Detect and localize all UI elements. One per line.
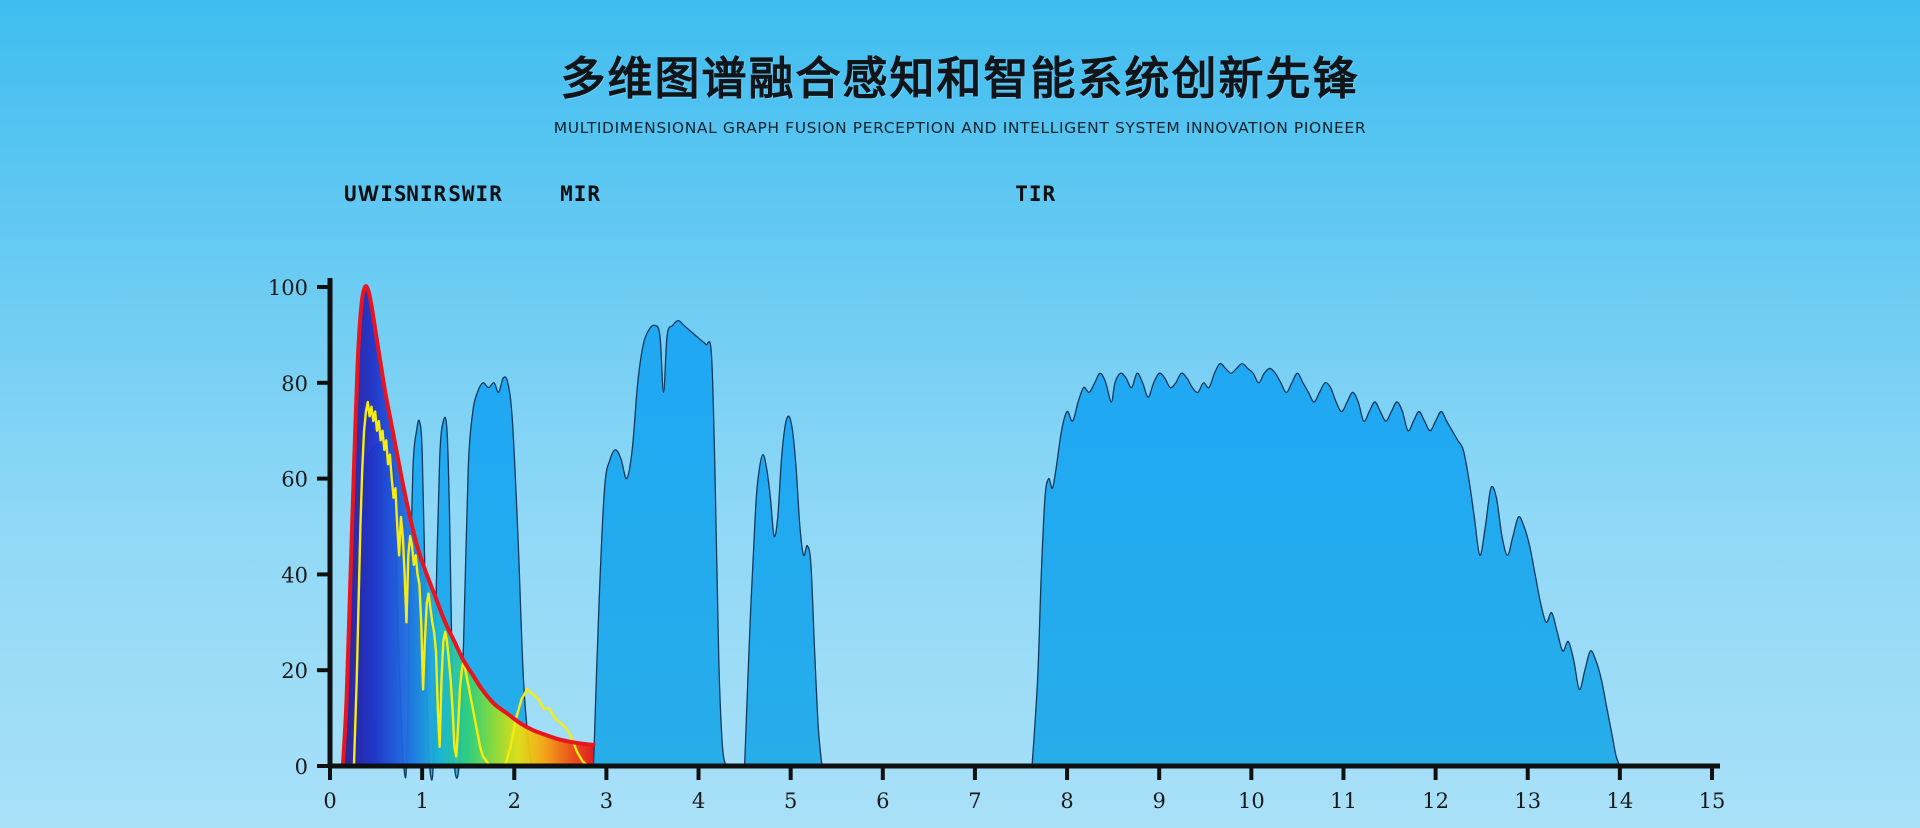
x-tick-label: 0 (323, 789, 336, 813)
y-tick-label: 80 (281, 372, 308, 396)
y-tick-label: 40 (281, 563, 308, 587)
x-tick-label: 3 (600, 789, 613, 813)
x-tick-label: 4 (692, 789, 705, 813)
x-tick-label: 11 (1330, 789, 1357, 813)
y-tick-label: 60 (281, 468, 308, 492)
transmission-band (1032, 364, 1620, 766)
x-tick-label: 6 (876, 789, 889, 813)
spectral-chart: 0204060801000123456789101112131415 (0, 0, 1920, 828)
y-tick-label: 0 (295, 755, 308, 779)
x-tick-label: 1 (415, 789, 428, 813)
x-tick-label: 2 (508, 789, 521, 813)
transmission-bands-area (356, 321, 1620, 781)
y-tick-label: 100 (268, 276, 308, 300)
x-tick-label: 12 (1422, 789, 1449, 813)
x-tick-label: 14 (1606, 789, 1633, 813)
x-tick-label: 13 (1514, 789, 1541, 813)
y-tick-label: 20 (281, 659, 308, 683)
transmission-band (745, 416, 822, 766)
banner-root: 多维图谱融合感知和智能系统创新先锋 MULTIDIMENSIONAL GRAPH… (0, 0, 1920, 828)
x-tick-label: 10 (1238, 789, 1265, 813)
transmission-band (594, 321, 727, 766)
x-tick-label: 7 (968, 789, 981, 813)
x-tick-label: 5 (784, 789, 797, 813)
x-tick-label: 8 (1060, 789, 1073, 813)
x-tick-label: 9 (1153, 789, 1166, 813)
x-tick-label: 15 (1699, 789, 1726, 813)
